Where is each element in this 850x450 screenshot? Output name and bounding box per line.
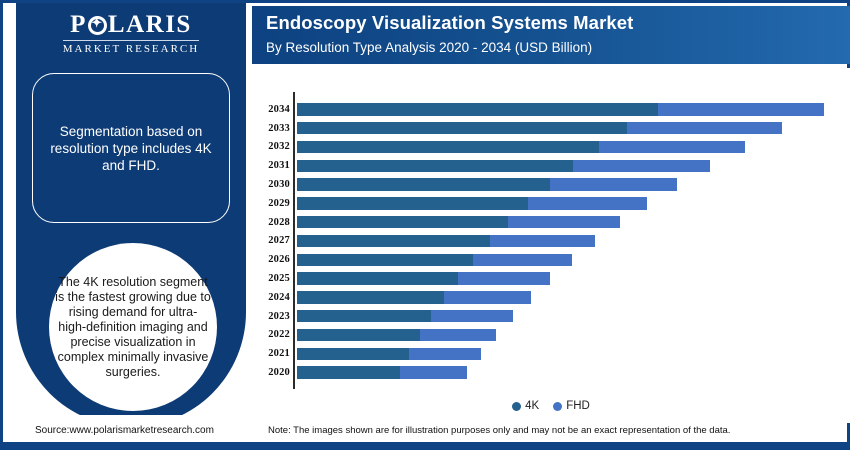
legend-item[interactable]: 4K [512, 400, 539, 412]
bar-segment-4k [297, 178, 551, 191]
bar-row-year-label: 2030 [252, 179, 294, 190]
bar-row-year-label: 2033 [252, 123, 294, 134]
bar-row: 2025 [252, 269, 850, 288]
callout-box-segmentation: Segmentation based on resolution type in… [32, 73, 230, 223]
bar-row-year-label: 2031 [252, 160, 294, 171]
bar-segment-fhd [444, 291, 531, 304]
bar-row: 2020 [252, 363, 850, 382]
bar-row: 2034 [252, 100, 850, 119]
bar-row-year-label: 2032 [252, 141, 294, 152]
bar-row-year-label: 2023 [252, 311, 294, 322]
legend-label: FHD [566, 400, 590, 412]
bar-row: 2029 [252, 194, 850, 213]
stacked-bar [297, 310, 850, 323]
stacked-bar [297, 366, 850, 379]
chart-plot-area: 2034203320322031203020292028202720262025… [252, 82, 850, 382]
bar-segment-4k [297, 103, 659, 116]
stacked-bar [297, 178, 850, 191]
chart-container: 2034203320322031203020292028202720262025… [252, 68, 850, 423]
bar-row-year-label: 2021 [252, 348, 294, 359]
bottom-accent-bar [3, 442, 850, 447]
callout-circle-insight: The 4K resolution segment is the fastest… [49, 243, 217, 411]
stacked-bar [297, 103, 850, 116]
stacked-bar [297, 141, 850, 154]
stacked-bar [297, 348, 850, 361]
bar-row-year-label: 2022 [252, 329, 294, 340]
bar-row: 2022 [252, 326, 850, 345]
bar-row-year-label: 2034 [252, 104, 294, 115]
bar-row-year-label: 2027 [252, 235, 294, 246]
brand-logo-wordmark: P LARIS [16, 11, 246, 39]
bar-row: 2027 [252, 232, 850, 251]
bar-row: 2028 [252, 213, 850, 232]
bar-row-year-label: 2029 [252, 198, 294, 209]
bar-segment-fhd [400, 366, 468, 379]
bar-segment-4k [297, 272, 458, 285]
footer-source: Source:www.polarismarketresearch.com [35, 425, 214, 436]
legend-dot-icon [553, 402, 562, 411]
bar-row: 2030 [252, 175, 850, 194]
bar-segment-fhd [528, 197, 647, 210]
bar-row: 2033 [252, 119, 850, 138]
bar-segment-4k [297, 366, 400, 379]
brand-tagline: MARKET RESEARCH [63, 40, 199, 55]
bar-segment-4k [297, 291, 445, 304]
legend-label: 4K [525, 400, 539, 412]
bar-row-year-label: 2026 [252, 254, 294, 265]
brand-name-part2: LARIS [108, 11, 192, 39]
bar-segment-4k [297, 310, 432, 323]
brand-name-part1: P [70, 11, 87, 39]
bar-segment-4k [297, 348, 410, 361]
bar-segment-4k [297, 254, 474, 267]
bar-segment-fhd [550, 178, 677, 191]
chart-legend: 4KFHD [252, 400, 850, 412]
stacked-bar [297, 291, 850, 304]
stacked-bar [297, 329, 850, 342]
bar-segment-fhd [658, 103, 823, 116]
bar-segment-fhd [431, 310, 512, 323]
bar-row: 2024 [252, 288, 850, 307]
page-title: Endoscopy Visualization Systems Market [266, 11, 850, 35]
stacked-bar [297, 254, 850, 267]
bar-segment-fhd [473, 254, 572, 267]
chart-header: Endoscopy Visualization Systems Market B… [252, 6, 850, 64]
bar-row: 2023 [252, 307, 850, 326]
bar-row: 2021 [252, 344, 850, 363]
stacked-bar [297, 122, 850, 135]
bar-segment-4k [297, 160, 574, 173]
stacked-bar [297, 235, 850, 248]
bar-segment-fhd [490, 235, 595, 248]
stacked-bar [297, 272, 850, 285]
bar-segment-fhd [420, 329, 497, 342]
bar-row: 2031 [252, 156, 850, 175]
bar-segment-4k [297, 122, 628, 135]
bar-row-year-label: 2020 [252, 367, 294, 378]
bar-segment-fhd [599, 141, 744, 154]
infographic-page: P LARIS MARKET RESEARCH Segmentation bas… [0, 0, 850, 450]
bar-segment-fhd [627, 122, 782, 135]
bar-segment-fhd [458, 272, 550, 285]
footer: Source:www.polarismarketresearch.com Not… [6, 415, 847, 444]
stacked-bar [297, 216, 850, 229]
compass-star-icon [88, 16, 107, 35]
legend-item[interactable]: FHD [553, 400, 590, 412]
bar-segment-fhd [508, 216, 620, 229]
legend-dot-icon [512, 402, 521, 411]
bar-row: 2032 [252, 138, 850, 157]
footer-note: Note: The images shown are for illustrat… [268, 425, 730, 436]
bar-row: 2026 [252, 250, 850, 269]
bar-row-year-label: 2025 [252, 273, 294, 284]
callout-circle-text: The 4K resolution segment is the fastest… [55, 275, 211, 380]
bar-row-year-label: 2028 [252, 217, 294, 228]
bar-segment-4k [297, 235, 491, 248]
bar-segment-4k [297, 216, 509, 229]
bar-segment-fhd [409, 348, 481, 361]
stacked-bar [297, 197, 850, 210]
left-sidebar-panel: P LARIS MARKET RESEARCH Segmentation bas… [16, 3, 246, 427]
bar-segment-4k [297, 141, 600, 154]
brand-logo: P LARIS MARKET RESEARCH [16, 11, 246, 57]
bar-row-year-label: 2024 [252, 292, 294, 303]
bar-segment-fhd [573, 160, 709, 173]
stacked-bar [297, 160, 850, 173]
bar-segment-4k [297, 197, 528, 210]
bar-segment-4k [297, 329, 420, 342]
page-subtitle: By Resolution Type Analysis 2020 - 2034 … [266, 39, 850, 56]
bar-rows: 2034203320322031203020292028202720262025… [252, 100, 850, 382]
callout-box-text: Segmentation based on resolution type in… [45, 123, 217, 174]
